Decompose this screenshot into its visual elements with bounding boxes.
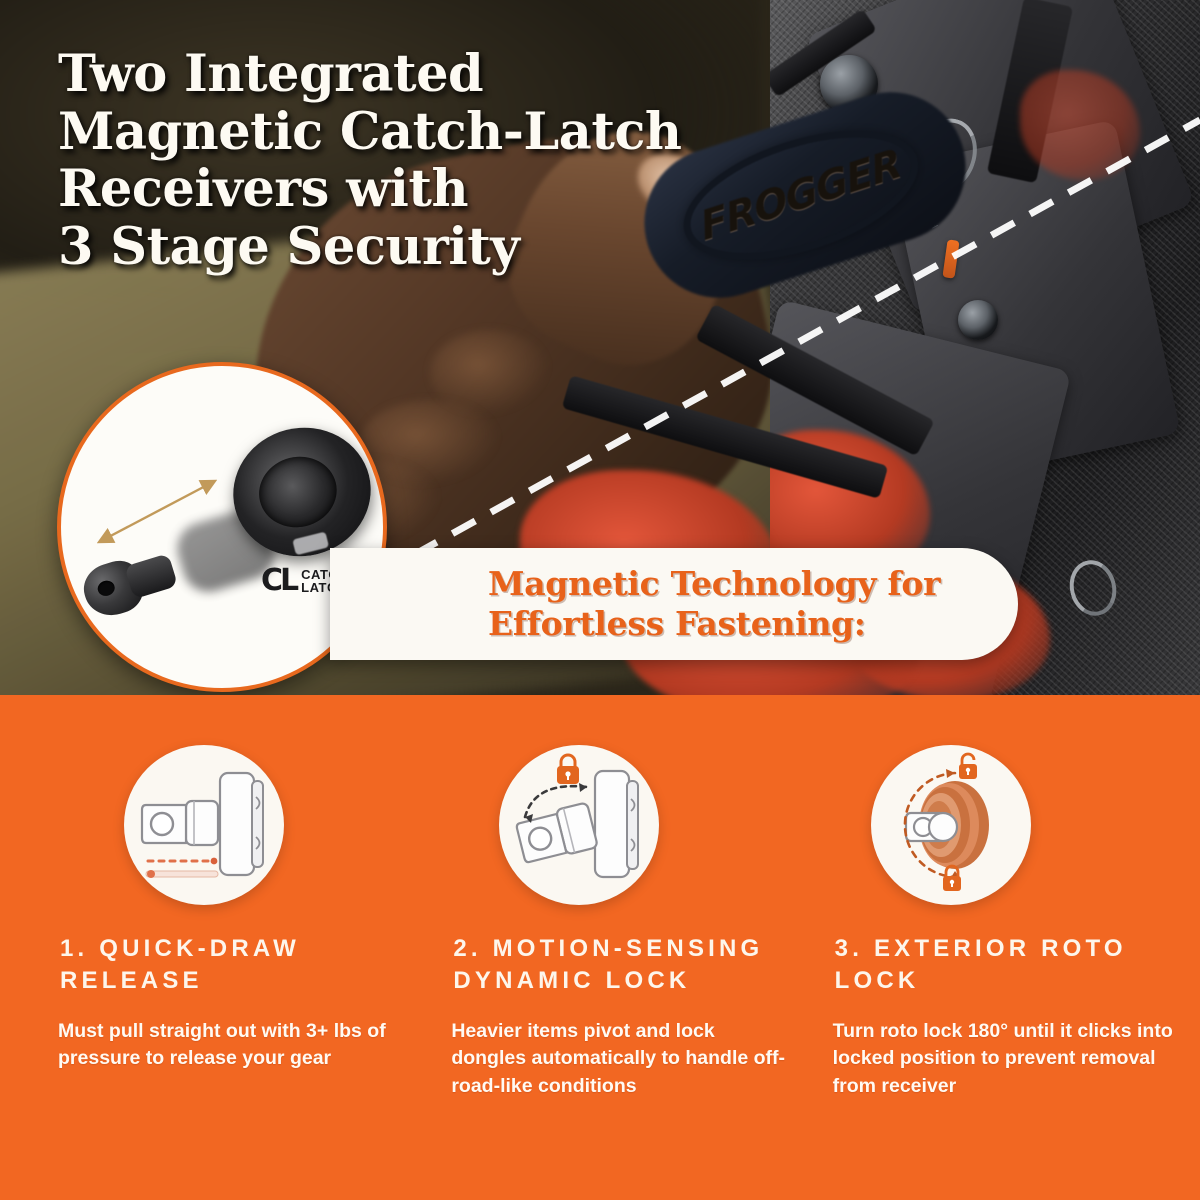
feature-body-3: Turn roto lock 180° until it clicks into… [833,1018,1174,1101]
feature-column-3: 3. EXTERIOR ROTO LOCK Turn roto lock 180… [819,695,1200,1200]
dongle-neck [124,553,178,599]
headline-line-4: 3 Stage Security [58,219,758,277]
dongle-pivot-lock-icon [499,745,659,905]
lock-open-icon [959,754,977,779]
banner-text: Magnetic Technology for Effortless Faste… [488,564,1008,643]
banner-line-1: Magnetic Technology for [488,564,1008,604]
headline-line-2: Magnetic Catch-Latch [58,104,758,162]
feature-body-2: Heavier items pivot and lock dongles aut… [451,1018,792,1101]
exterior-roto-lock-icon [871,745,1031,905]
dongle-pull-release-icon [124,745,284,905]
receiver-tab [292,532,329,556]
banner-line-2: Effortless Fastening: [488,604,1008,644]
motion-sensing-lock-icon [499,745,659,905]
hero-photo: CATCH FROGGER Two Integrated [0,0,1200,700]
feature-column-2: 2. MOTION-SENSING DYNAMIC LOCK Heavier i… [425,695,818,1200]
cl-monogram: CL [261,566,296,596]
feature-column-1: 1. QUICK-DRAW RELEASE Must pull straight… [0,695,425,1200]
headline-line-1: Two Integrated [58,46,758,104]
features-panel: 1. QUICK-DRAW RELEASE Must pull straight… [0,695,1200,1200]
magnetic-technology-banner: Magnetic Technology for Effortless Faste… [330,548,1018,660]
roto-lock-rotate-icon [871,745,1031,905]
receiver-notch [281,474,315,507]
grommet-icon [958,300,998,340]
product-infographic: CATCH FROGGER Two Integrated [0,0,1200,1200]
quick-draw-release-icon [124,745,284,905]
page-title: Two Integrated Magnetic Catch-Latch Rece… [58,46,758,277]
lock-closed-icon [943,866,961,891]
feature-body-1: Must pull straight out with 3+ lbs of pr… [58,1018,399,1073]
features-columns: 1. QUICK-DRAW RELEASE Must pull straight… [0,695,1200,1200]
feature-title-3: 3. EXTERIOR ROTO LOCK [835,933,1174,998]
headline-line-3: Receivers with [58,161,758,219]
feature-title-1: 1. QUICK-DRAW RELEASE [60,933,399,998]
feature-title-2: 2. MOTION-SENSING DYNAMIC LOCK [453,933,792,998]
lock-closed-icon [557,755,579,784]
